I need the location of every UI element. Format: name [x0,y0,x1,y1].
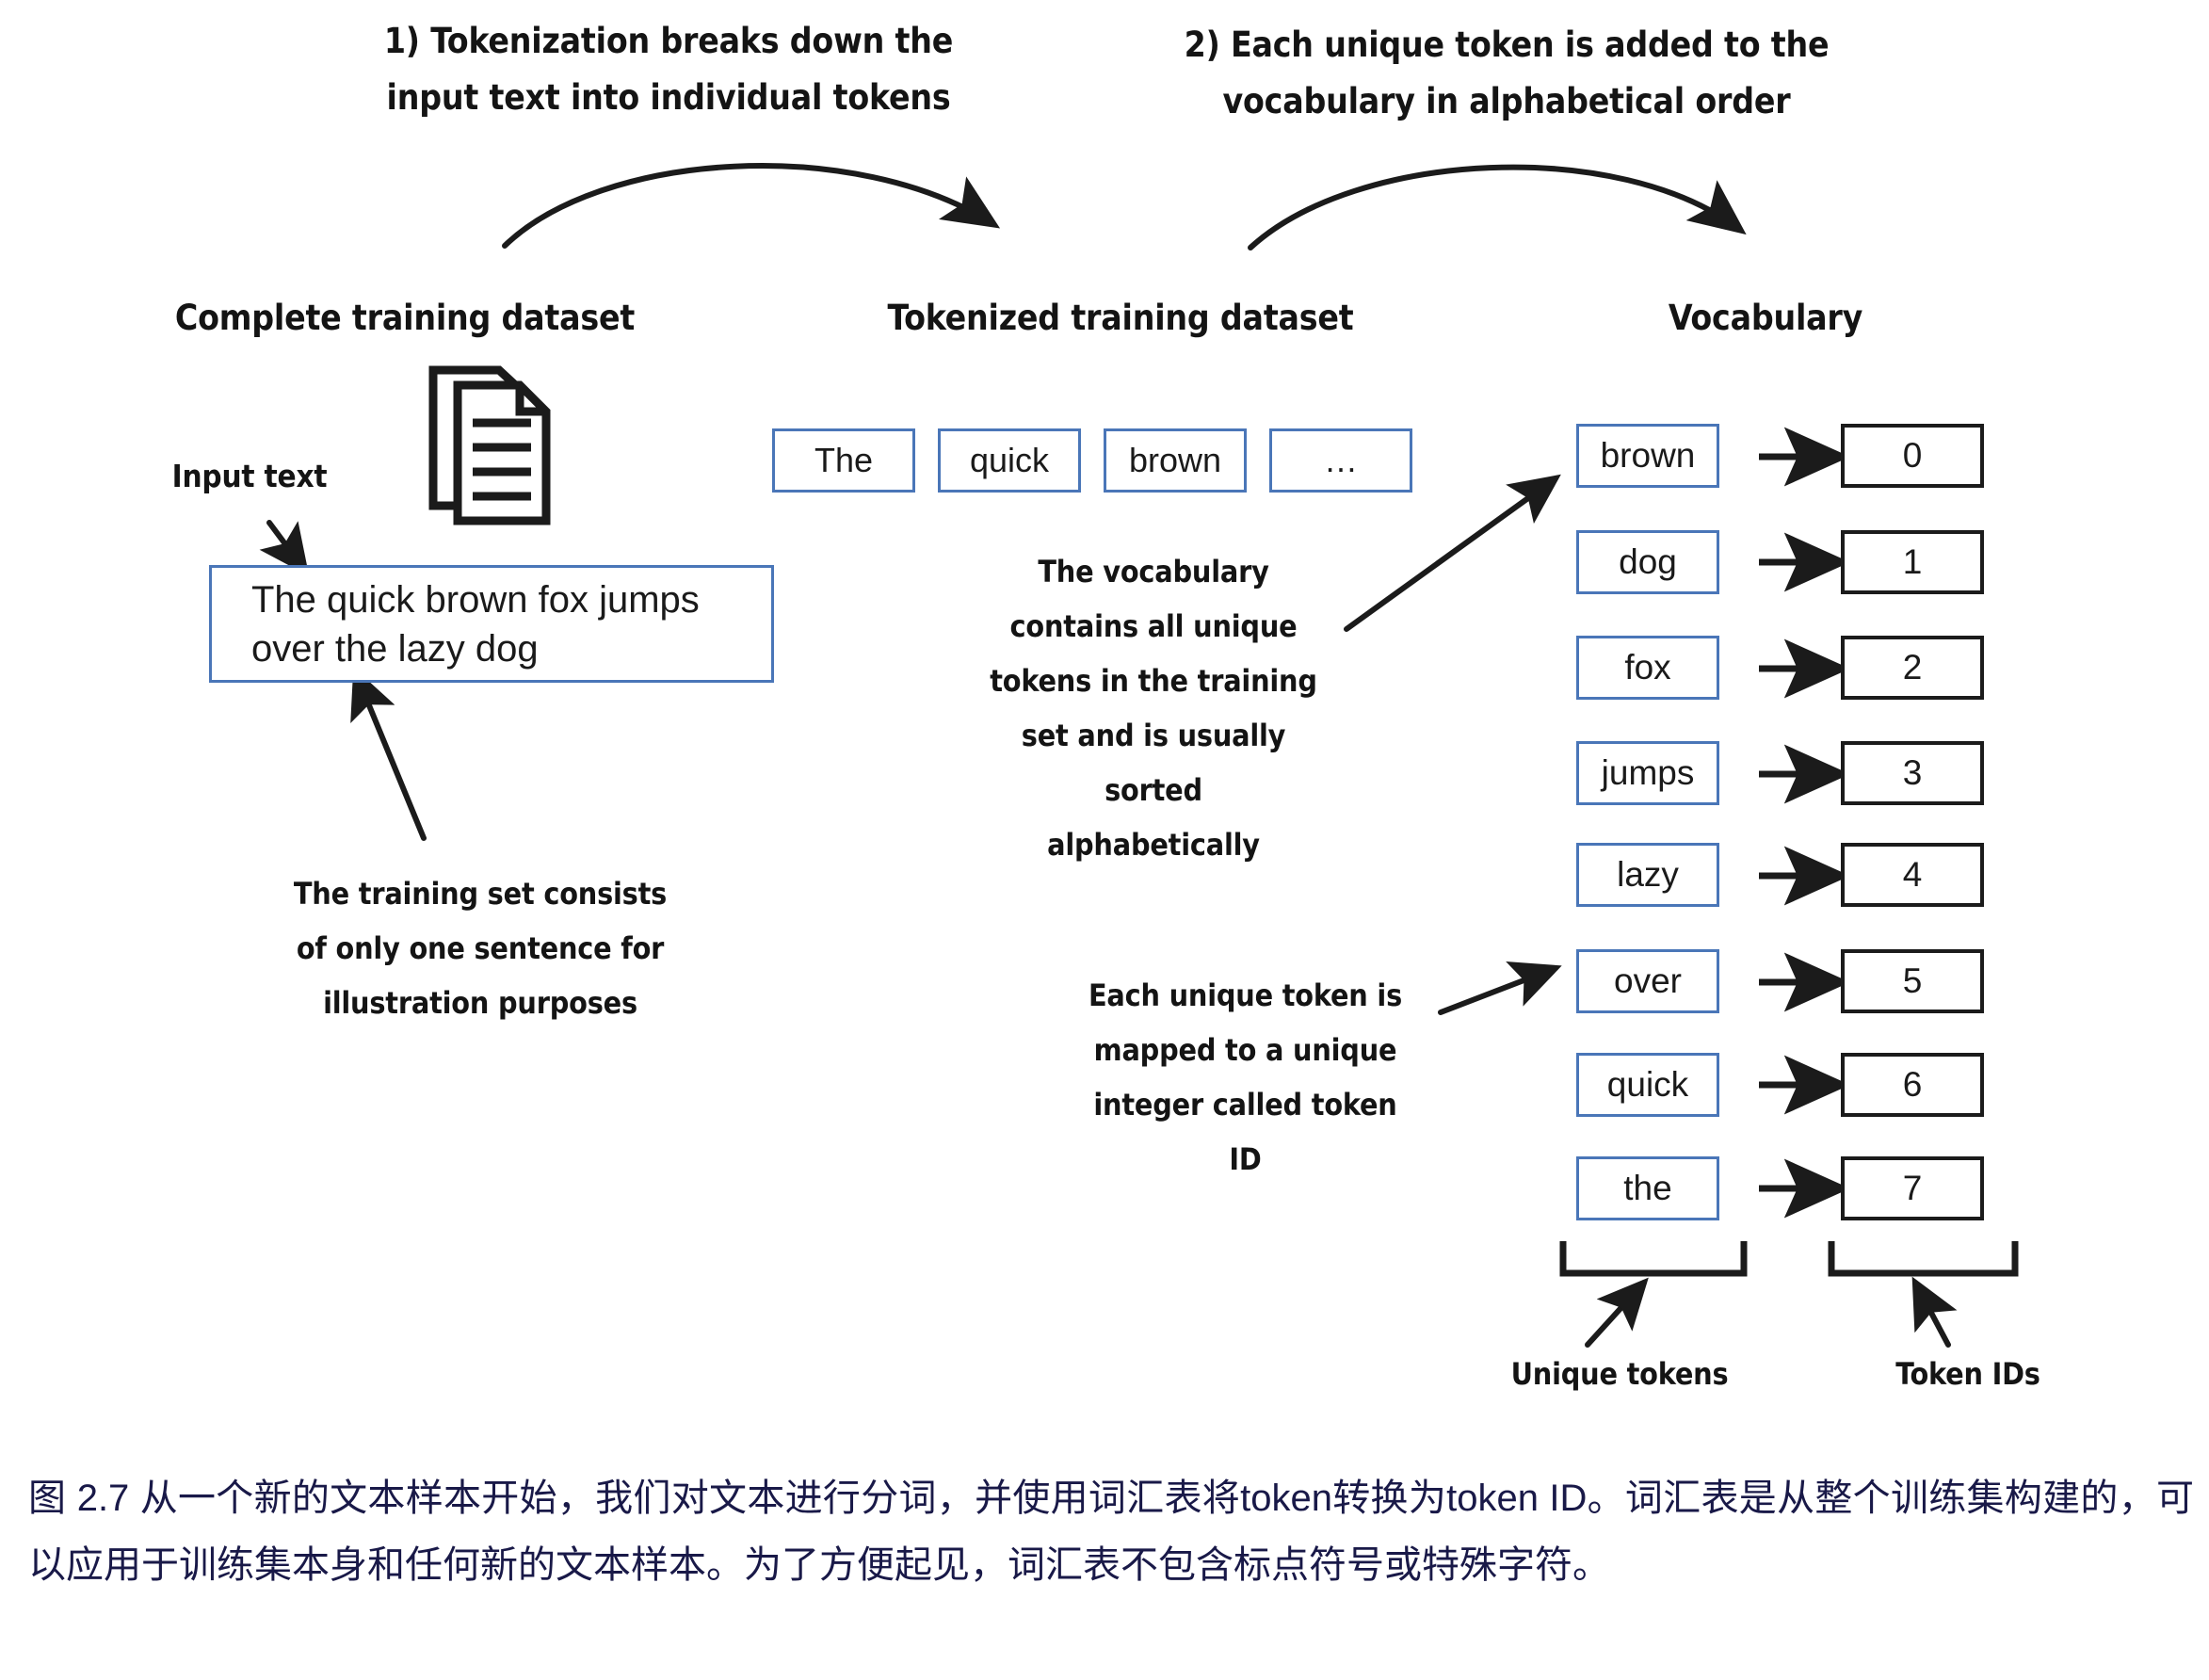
vocab-token-box-4[interactable]: lazy [1576,843,1719,907]
vocab-id-box-7[interactable]: 7 [1841,1156,1984,1220]
figure-canvas: 1) Tokenization breaks down the input te… [0,0,2209,1680]
token-ids-label-arrow [1915,1283,1948,1345]
vocab-id-box-1[interactable]: 1 [1841,530,1984,594]
vocab-token-box-1[interactable]: dog [1576,530,1719,594]
vocab-token-box-6[interactable]: quick [1576,1053,1719,1117]
column-header-tokenized-dataset: Tokenized training dataset [838,298,1403,339]
unique-tokens-label-arrow [1588,1283,1644,1345]
step-2-title: 2) Each unique token is added to the voc… [1177,17,1836,130]
vocab-token-box-3[interactable]: jumps [1576,741,1719,805]
vocab-id-box-6[interactable]: 6 [1841,1053,1984,1117]
vocabulary-note-arrow [1346,478,1556,629]
vocab-token-box-2[interactable]: fox [1576,636,1719,700]
vocab-id-box-5[interactable]: 5 [1841,949,1984,1013]
token-box-1[interactable]: quick [938,428,1081,493]
vocab-token-box-0[interactable]: brown [1576,424,1719,488]
vocabulary-note: The vocabulary contains all unique token… [942,544,1365,872]
unique-tokens-bracket-label: Unique tokens [1469,1356,1770,1392]
vocab-token-box-5[interactable]: over [1576,949,1719,1013]
documents-icon [426,363,557,532]
token-id-note-arrow [1441,968,1556,1012]
column-header-complete-dataset: Complete training dataset [122,298,687,339]
vocab-id-box-0[interactable]: 0 [1841,424,1984,488]
step-1-title: 1) Tokenization breaks down the input te… [377,13,960,126]
training-set-note-arrow [356,673,424,838]
input-text-label: Input text [141,459,358,494]
token-box-0[interactable]: The [772,428,915,493]
column-header-vocabulary: Vocabulary [1582,298,1949,339]
training-set-note: The training set consists of only one se… [268,866,692,1030]
vocab-id-box-3[interactable]: 3 [1841,741,1984,805]
input-text-pointer-arrow [269,523,305,571]
vocab-id-box-4[interactable]: 4 [1841,843,1984,907]
token-ids-bracket-label: Token IDs [1836,1356,2100,1392]
vocab-id-box-2[interactable]: 2 [1841,636,1984,700]
step1-curved-arrow [505,166,993,246]
figure-caption: 图 2.7 从一个新的文本样本开始，我们对文本进行分词，并使用词汇表将token… [28,1465,2194,1599]
token-box-2[interactable]: brown [1104,428,1247,493]
token-id-note: Each unique token is mapped to a unique … [1059,968,1431,1187]
unique-tokens-bracket [1563,1241,1744,1273]
token-box-3[interactable]: … [1269,428,1412,493]
input-text-box[interactable]: The quick brown fox jumps over the lazy … [209,565,774,683]
vocab-token-box-7[interactable]: the [1576,1156,1719,1220]
step2-curved-arrow [1250,168,1740,248]
token-ids-bracket [1831,1241,2015,1273]
